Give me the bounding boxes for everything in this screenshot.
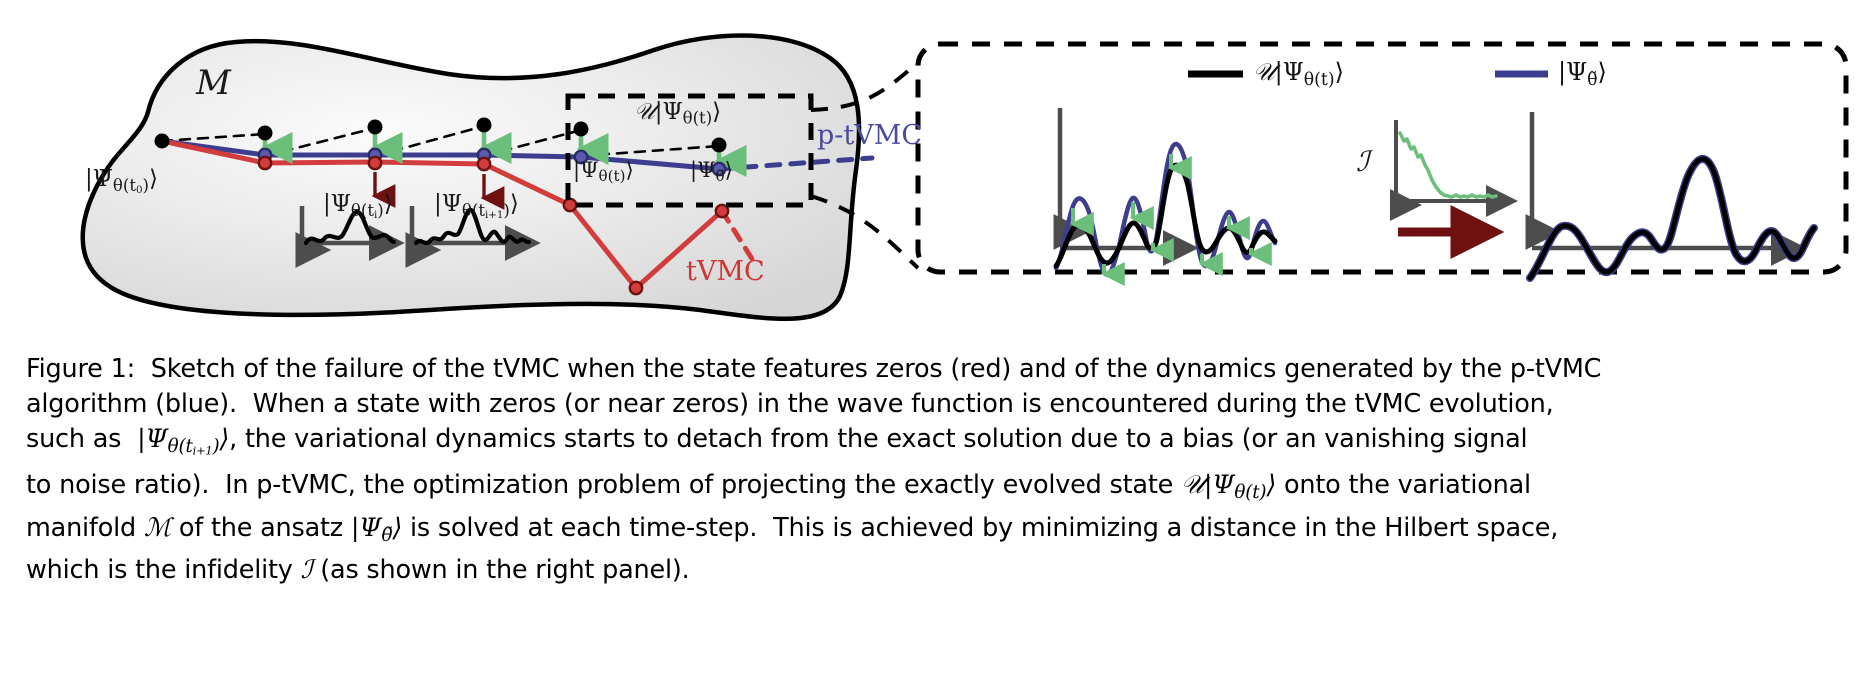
variational-state-label: |Ψθ(t)⟩ — [573, 160, 634, 184]
projected-state-label: |Ψθ̃⟩ — [690, 160, 733, 184]
caption-line-5: manifold ℳ of the ansatz |Ψθ̃⟩ is solved… — [26, 511, 1838, 553]
initial-state-label: |Ψθ(t0)⟩ — [85, 168, 158, 195]
caption-line-1: Figure 1: Sketch of the failure of the t… — [26, 352, 1838, 387]
caption-line-4: to noise ratio). In p-tVMC, the optimiza… — [26, 468, 1838, 510]
legend-label-variational: |Ψθ̃⟩ — [1558, 60, 1607, 89]
tvmc-label: tVMC — [686, 258, 765, 285]
state-ti-label: |Ψθ(ti)⟩ — [323, 193, 393, 220]
figure-caption: Figure 1: Sketch of the failure of the t… — [26, 352, 1838, 588]
caption-line-2: algorithm (blue). When a state with zero… — [26, 387, 1838, 422]
infidelity-label: ℐ — [1356, 148, 1369, 176]
state-tip1-label: |Ψθ(ti+1)⟩ — [434, 193, 519, 220]
exact-evolved-state-label: 𝒰|Ψθ(t)⟩ — [634, 101, 721, 127]
caption-line-6: which is the infidelity ℐ (as shown in t… — [26, 553, 1838, 588]
figure-root: M |Ψθ(t0)⟩ |Ψθ(ti)⟩ |Ψθ(ti+1)⟩ 𝒰|Ψθ(t)⟩ … — [0, 0, 1864, 686]
ptvmc-label: p-tVMC — [817, 122, 922, 149]
caption-line-3: such as |Ψθ(ti+1)⟩, the variational dyna… — [26, 422, 1838, 468]
legend-label-exact: 𝒰|Ψθ(t)⟩ — [1253, 60, 1344, 89]
manifold-label: M — [196, 66, 231, 100]
